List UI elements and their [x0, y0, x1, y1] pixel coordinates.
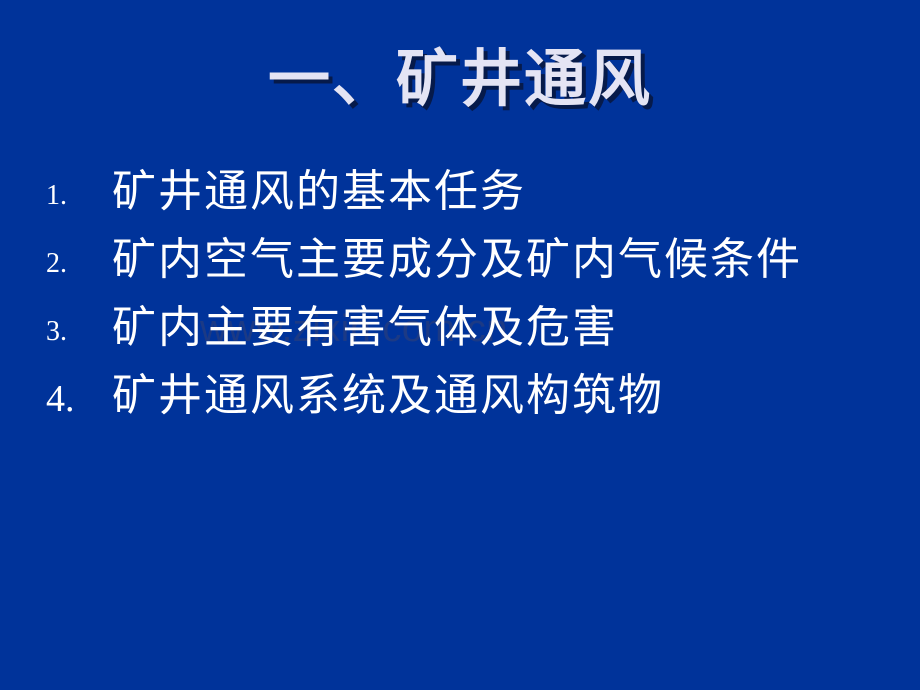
- slide-canvas: www.zixin.com.cn 一、矿井通风 1. 矿井通风的基本任务 2. …: [0, 0, 920, 690]
- slide-title-block: 一、矿井通风: [0, 42, 920, 118]
- list-item-marker: 4.: [46, 364, 106, 434]
- list-item-label: 矿内空气主要成分及矿内气候条件: [112, 228, 872, 292]
- slide-title: 一、矿井通风: [268, 42, 652, 118]
- list-item[interactable]: 2. 矿内空气主要成分及矿内气候条件: [0, 228, 920, 292]
- list-item-marker: 2.: [46, 228, 106, 300]
- agenda-list: 1. 矿井通风的基本任务 2. 矿内空气主要成分及矿内气候条件 3. 矿内主要有…: [0, 160, 920, 432]
- list-item[interactable]: 1. 矿井通风的基本任务: [0, 160, 920, 224]
- list-item-label: 矿内主要有害气体及危害: [112, 296, 900, 360]
- list-item-label: 矿井通风系统及通风构筑物: [112, 364, 900, 428]
- list-item-marker: 1.: [46, 160, 106, 232]
- list-item[interactable]: 3. 矿内主要有害气体及危害: [0, 296, 920, 360]
- list-item-marker: 3.: [46, 296, 106, 368]
- list-item-label: 矿井通风的基本任务: [112, 160, 900, 224]
- list-item[interactable]: 4. 矿井通风系统及通风构筑物: [0, 364, 920, 428]
